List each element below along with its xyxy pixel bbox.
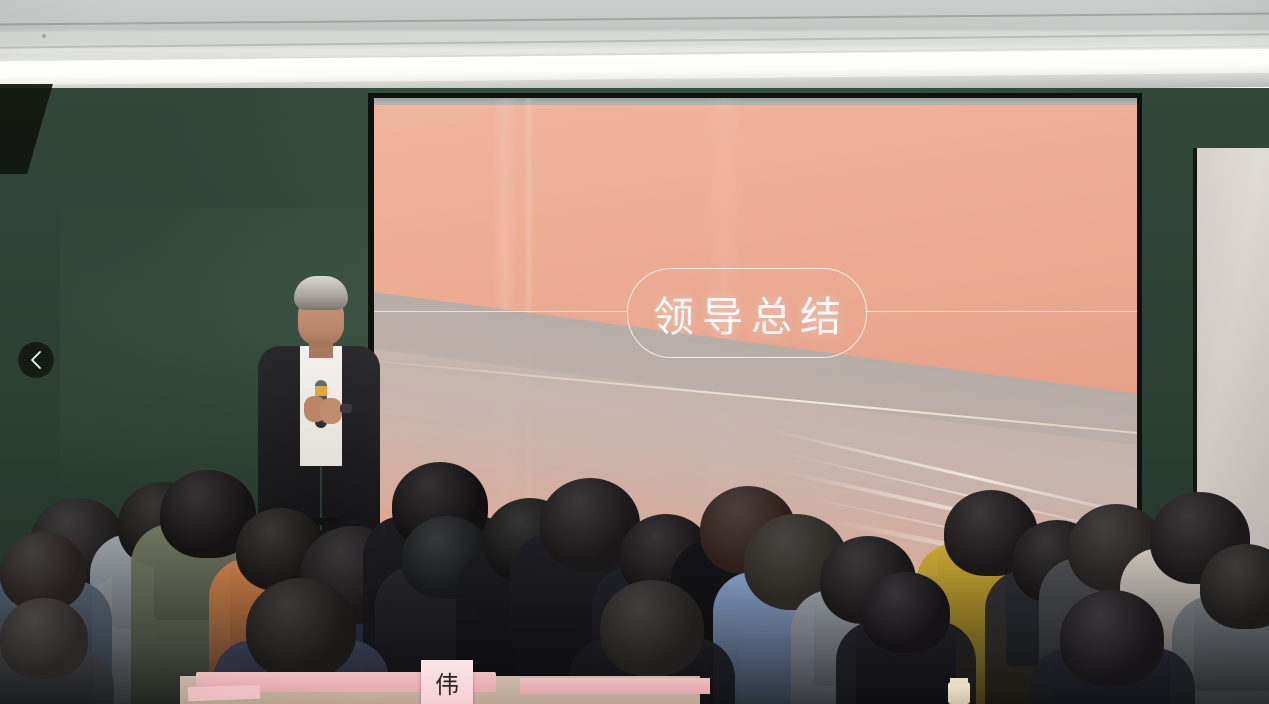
previous-image-button[interactable] bbox=[18, 342, 54, 378]
slide-title-pill: 领导总结 bbox=[627, 268, 867, 358]
name-placard-text: 伟 bbox=[435, 665, 459, 700]
ceiling-seam bbox=[0, 33, 1269, 48]
pink-paper-sheet bbox=[188, 685, 260, 702]
slide-title: 领导总结 bbox=[645, 283, 849, 343]
name-placard: 伟 bbox=[421, 660, 473, 704]
audience-member-head bbox=[0, 598, 88, 679]
audience-member-head bbox=[600, 580, 704, 676]
audience-member-head bbox=[1060, 590, 1164, 686]
meeting-photo-viewer: 领导总结 伟 bbox=[0, 0, 1269, 704]
ceiling-seam bbox=[0, 12, 1269, 25]
water-bottle bbox=[948, 682, 970, 704]
audience-member-head bbox=[246, 578, 356, 679]
presenter-wristwatch bbox=[340, 404, 352, 413]
presenter-hair bbox=[294, 276, 348, 310]
ceiling-fixture-dot bbox=[42, 34, 46, 38]
slide-divider-line-left bbox=[374, 311, 627, 312]
microphone-accent-band bbox=[315, 386, 327, 396]
chevron-left-icon bbox=[29, 350, 43, 370]
slide-divider-line-right bbox=[865, 311, 1137, 312]
screen-top-roller bbox=[374, 98, 1137, 105]
table-cloth bbox=[520, 678, 710, 694]
audience-member-head bbox=[862, 572, 950, 653]
ceiling bbox=[0, 0, 1269, 96]
audience bbox=[0, 440, 1269, 704]
presenter-hand-right bbox=[320, 398, 342, 424]
water-bottle-cap bbox=[950, 678, 968, 685]
